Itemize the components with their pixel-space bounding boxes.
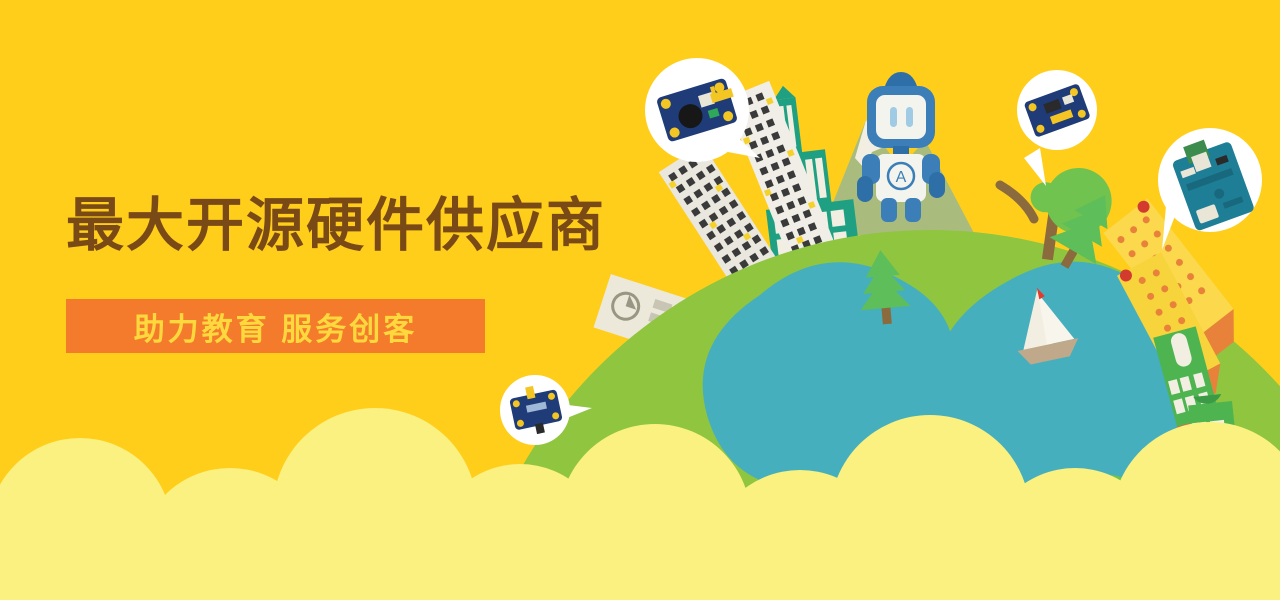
subtitle-text: 助力教育 服务创客 [66,299,485,353]
subtitle-banner: 助力教育 服务创客 [66,299,485,353]
promo-banner: A [0,0,1280,600]
page-title: 最大开源硬件供应商 [66,189,606,263]
copy-block: 最大开源硬件供应商 助力教育 服务创客 [0,0,560,600]
